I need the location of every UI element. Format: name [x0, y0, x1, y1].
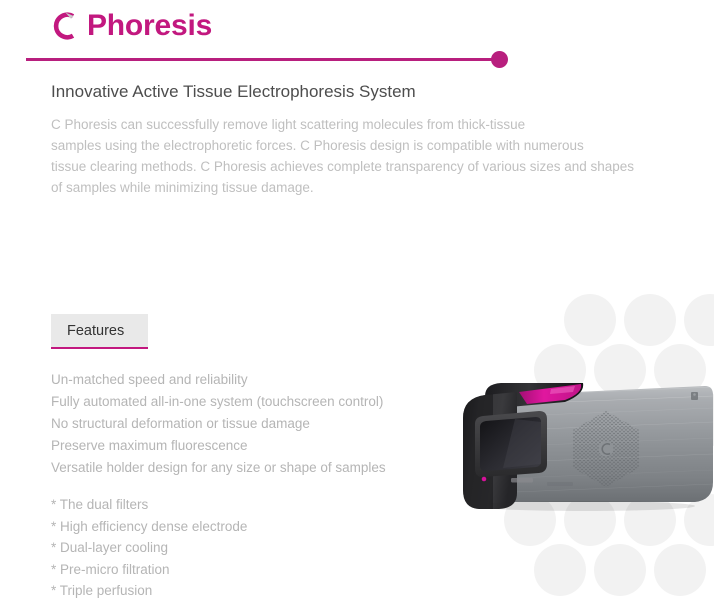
brand-lockup: Phoresis	[48, 4, 212, 48]
c-ring-logo-icon	[48, 9, 78, 43]
list-item: * The dual filters	[51, 494, 247, 516]
header-divider-rule	[26, 58, 504, 61]
page-title: Innovative Active Tissue Electrophoresis…	[51, 81, 671, 103]
instrument-corner-badge	[691, 392, 698, 400]
list-item: * Dual-layer cooling	[51, 537, 247, 559]
instrument-front-nameplate	[511, 478, 533, 483]
list-item: Preserve maximum fluorescence	[51, 435, 386, 457]
intro-paragraph-line: samples using the electrophoretic forces…	[51, 135, 671, 156]
intro-paragraph-line: tissue clearing methods. C Phoresis achi…	[51, 156, 671, 177]
features-badge-label: Features	[67, 323, 124, 339]
brand-name: Phoresis	[87, 9, 212, 43]
list-item: No structural deformation or tissue dama…	[51, 413, 386, 435]
c-phoresis-instrument-photo	[455, 378, 714, 513]
list-item: Un-matched speed and reliability	[51, 369, 386, 391]
page-header: Phoresis	[0, 0, 714, 78]
power-led-indicator	[482, 477, 487, 482]
list-item: Fully automated all-in-one system (touch…	[51, 391, 386, 413]
list-item: * Triple perfusion	[51, 580, 247, 602]
list-item: * High efficiency dense electrode	[51, 516, 247, 538]
header-divider-endpoint-dot	[491, 51, 508, 68]
intro-paragraph-line: of samples while minimizing tissue damag…	[51, 177, 671, 198]
list-item: * Pre-micro filtration	[51, 559, 247, 581]
intro-block: Innovative Active Tissue Electrophoresis…	[51, 81, 671, 198]
instrument-body-logo	[547, 482, 573, 486]
list-item: Versatile holder design for any size or …	[51, 457, 386, 479]
features-list: Un-matched speed and reliability Fully a…	[51, 369, 386, 479]
features-section-badge: Features	[51, 314, 148, 349]
specifications-list: * The dual filters * High efficiency den…	[51, 494, 247, 602]
intro-paragraph-line: C Phoresis can successfully remove light…	[51, 114, 671, 135]
